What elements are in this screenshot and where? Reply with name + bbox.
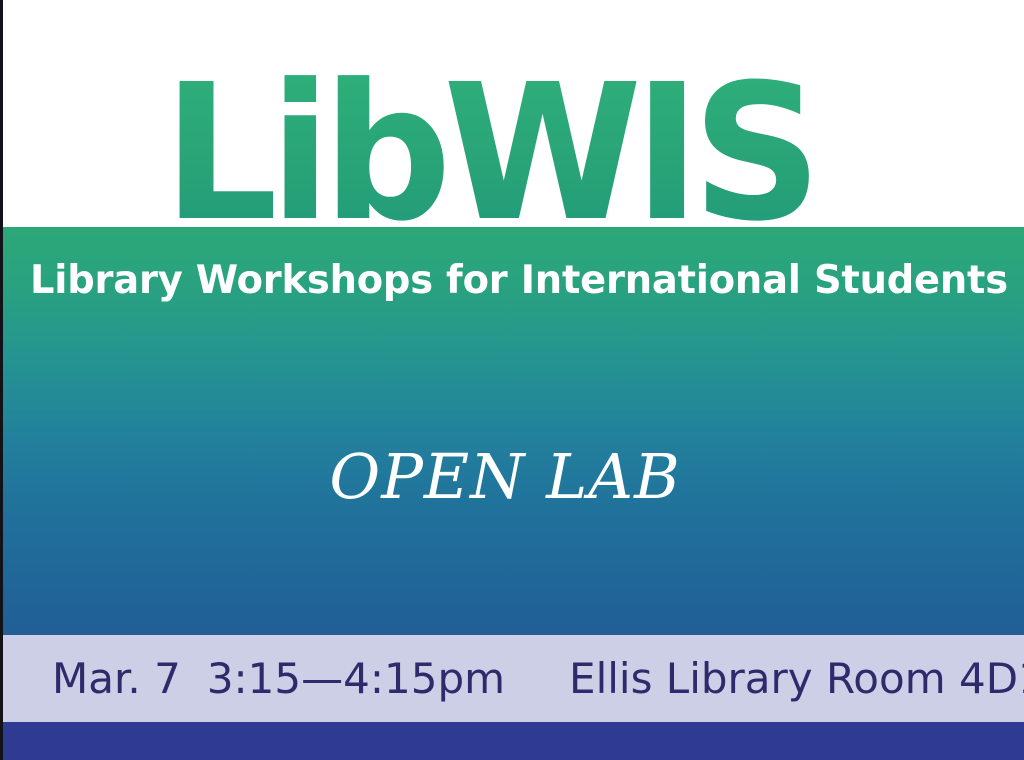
left-edge-border <box>0 0 3 760</box>
libwis-event-poster: LibWIS Library Workshops for Internation… <box>0 0 1024 760</box>
poster-subtitle: Library Workshops for International Stud… <box>30 256 980 306</box>
event-details-row: Mar. 7 3:15—4:15pm Ellis Library Room 4D… <box>52 644 1002 714</box>
libwis-logo-wordmark: LibWIS <box>163 60 813 248</box>
footer-accent-band <box>0 722 1024 760</box>
event-time: 3:15—4:15pm <box>207 644 505 714</box>
event-date: Mar. 7 <box>52 644 181 714</box>
event-location: Ellis Library Room 4D11 <box>569 644 1024 714</box>
event-title: OPEN LAB <box>0 441 1010 513</box>
